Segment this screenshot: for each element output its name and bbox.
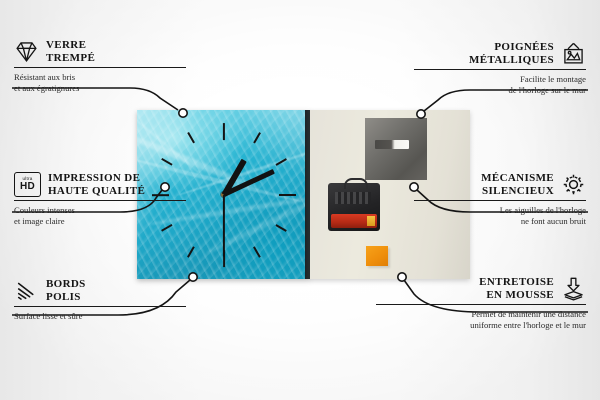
- hanger-slot: [375, 140, 409, 149]
- clock-tick: [187, 246, 195, 257]
- callout-rule: [14, 200, 186, 201]
- callout-header: ultra HD IMPRESSION DEHAUTE QUALITÉ: [14, 172, 186, 197]
- diamond-icon: [14, 39, 39, 64]
- callout-title: ENTRETOISEEN MOUSSE: [479, 276, 554, 301]
- callout-title: BORDSPOLIS: [46, 278, 86, 303]
- gear-icon: [561, 172, 586, 197]
- callout-subtitle: Résistant aux briset aux égratignures: [14, 72, 186, 93]
- metal-hanger-plate: [365, 118, 427, 180]
- callout-subtitle: Les aiguilles de l'horlogene font aucun …: [414, 205, 586, 226]
- callout-subtitle: Couleurs intenseset image claire: [14, 205, 186, 226]
- clock-tick: [222, 123, 224, 140]
- callout-title: MÉCANISMESILENCIEUX: [481, 172, 554, 197]
- clock-tick: [253, 246, 261, 257]
- clock-mechanism: [328, 183, 380, 231]
- foam-spacer: [366, 246, 388, 266]
- callout-header: ENTRETOISEEN MOUSSE: [376, 276, 586, 301]
- callout-header: POIGNÉESMÉTALLIQUES: [414, 41, 586, 66]
- callout-title: VERRETREMPÉ: [46, 39, 95, 64]
- hd-label: HD: [20, 182, 35, 192]
- callout-impression-haute-qualite[interactable]: ultra HD IMPRESSION DEHAUTE QUALITÉ Coul…: [14, 172, 186, 226]
- callout-title: IMPRESSION DEHAUTE QUALITÉ: [48, 172, 145, 197]
- callout-header: BORDSPOLIS: [14, 278, 186, 303]
- ultra-hd-icon: ultra HD: [14, 172, 41, 197]
- callout-subtitle: Permet de maintenir une distanceuniforme…: [376, 309, 586, 330]
- clock-tick: [275, 224, 286, 232]
- polished-edges-icon: [14, 278, 39, 303]
- picture-hanger-icon: [561, 41, 586, 66]
- callout-poignees-metalliques[interactable]: POIGNÉESMÉTALLIQUES Facilite le montaged…: [414, 41, 586, 95]
- callout-header: VERRETREMPÉ: [14, 39, 186, 64]
- clock-tick: [161, 158, 172, 166]
- foam-spacer-icon: [561, 276, 586, 301]
- clock-tick: [253, 132, 261, 143]
- callout-verre-trempe[interactable]: VERRETREMPÉ Résistant aux briset aux égr…: [14, 39, 186, 93]
- clock-tick: [275, 158, 286, 166]
- clock-second-hand: [223, 194, 225, 256]
- infographic-canvas: VERRETREMPÉ Résistant aux briset aux égr…: [0, 0, 600, 400]
- callout-rule: [14, 306, 186, 307]
- callout-rule: [414, 69, 586, 70]
- callout-entretoise-en-mousse[interactable]: ENTRETOISEEN MOUSSE Permet de maintenir …: [376, 276, 586, 330]
- callout-header: MÉCANISMESILENCIEUX: [414, 172, 586, 197]
- callout-rule: [414, 200, 586, 201]
- callout-title: POIGNÉESMÉTALLIQUES: [469, 41, 554, 66]
- clock-tick: [279, 194, 296, 196]
- mechanism-hook: [344, 178, 368, 189]
- callout-subtitle: Facilite le montagede l'horloge sur le m…: [414, 74, 586, 95]
- clock-tick: [187, 132, 195, 143]
- callout-mecanisme-silencieux[interactable]: MÉCANISMESILENCIEUX Les aiguilles de l'h…: [414, 172, 586, 226]
- callout-rule: [14, 67, 186, 68]
- callout-subtitle: Surface lisse et sûre: [14, 311, 186, 322]
- mechanism-vent: [335, 192, 371, 204]
- callout-rule: [376, 304, 586, 305]
- callout-bords-polis[interactable]: BORDSPOLIS Surface lisse et sûre: [14, 278, 186, 322]
- battery: [331, 214, 377, 228]
